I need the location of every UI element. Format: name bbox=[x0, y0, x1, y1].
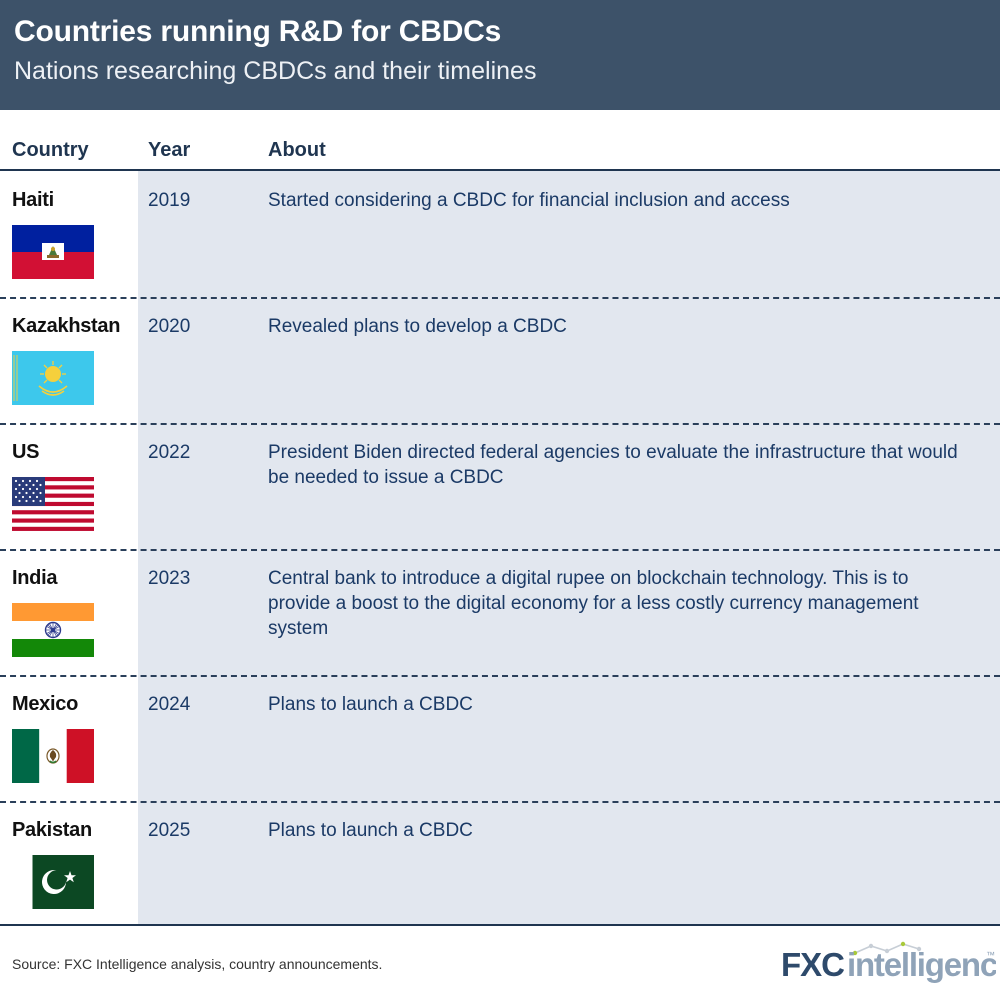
svg-text:FXC: FXC bbox=[781, 946, 844, 983]
us-flag bbox=[12, 477, 94, 531]
table-row: Pakistan 2025 Plans to launch a CBDC bbox=[0, 801, 1000, 927]
country-cell: Haiti bbox=[12, 189, 132, 211]
footer: Source: FXC Intelligence analysis, count… bbox=[0, 926, 1000, 1002]
table-header-row: Country Year About bbox=[0, 110, 1000, 170]
year-cell: 2023 bbox=[148, 567, 190, 591]
row-separator bbox=[0, 423, 1000, 425]
pakistan-flag bbox=[12, 855, 94, 909]
country-name: US bbox=[12, 441, 132, 463]
country-cell: Mexico bbox=[12, 693, 132, 715]
table-row: US bbox=[0, 423, 1000, 549]
country-table: Country Year About Haiti bbox=[0, 110, 1000, 926]
about-cell: President Biden directed federal agencie… bbox=[268, 440, 974, 490]
about-cell: Plans to launch a CBDC bbox=[268, 818, 974, 843]
country-name: Mexico bbox=[12, 693, 132, 715]
india-flag bbox=[12, 603, 94, 657]
country-name: Haiti bbox=[12, 189, 132, 211]
year-cell: 2022 bbox=[148, 441, 190, 465]
row-separator bbox=[0, 675, 1000, 677]
country-cell: Kazakhstan bbox=[12, 315, 132, 337]
country-name: Pakistan bbox=[12, 819, 132, 841]
svg-text:™: ™ bbox=[986, 950, 995, 960]
country-cell: Pakistan bbox=[12, 819, 132, 841]
infographic-page: Countries running R&D for CBDCs Nations … bbox=[0, 0, 1000, 1002]
year-cell: 2019 bbox=[148, 189, 190, 213]
header-banner: Countries running R&D for CBDCs Nations … bbox=[0, 0, 1000, 110]
table-row: Kazakhstan bbox=[0, 297, 1000, 423]
svg-text:intelligence: intelligence bbox=[847, 946, 996, 983]
year-cell: 2024 bbox=[148, 693, 190, 717]
column-header-year: Year bbox=[148, 139, 190, 162]
page-subtitle: Nations researching CBDCs and their time… bbox=[14, 54, 1000, 88]
country-name: India bbox=[12, 567, 132, 589]
table-row: India bbox=[0, 549, 1000, 675]
fxc-intelligence-logo: FXC intelligence ™ bbox=[781, 946, 996, 986]
kazakhstan-flag bbox=[12, 351, 94, 405]
table-row: Haiti 2019 Started considering a CBDC fo… bbox=[0, 171, 1000, 297]
table-row: Mexico 2024 Plans to launch a CBDC bbox=[0, 675, 1000, 801]
country-cell: US bbox=[12, 441, 132, 463]
column-header-about: About bbox=[268, 139, 326, 162]
mexico-flag bbox=[12, 729, 94, 783]
about-cell: Central bank to introduce a digital rupe… bbox=[268, 566, 974, 641]
about-cell: Plans to launch a CBDC bbox=[268, 692, 974, 717]
source-note: Source: FXC Intelligence analysis, count… bbox=[12, 956, 382, 972]
row-separator bbox=[0, 297, 1000, 299]
year-cell: 2020 bbox=[148, 315, 190, 339]
country-name: Kazakhstan bbox=[12, 315, 132, 337]
year-cell: 2025 bbox=[148, 819, 190, 843]
about-cell: Revealed plans to develop a CBDC bbox=[268, 314, 974, 339]
page-title: Countries running R&D for CBDCs bbox=[14, 10, 1000, 54]
row-separator bbox=[0, 549, 1000, 551]
country-cell: India bbox=[12, 567, 132, 589]
about-cell: Started considering a CBDC for financial… bbox=[268, 188, 974, 213]
haiti-flag bbox=[12, 225, 94, 279]
column-header-country: Country bbox=[12, 139, 89, 162]
row-separator bbox=[0, 801, 1000, 803]
